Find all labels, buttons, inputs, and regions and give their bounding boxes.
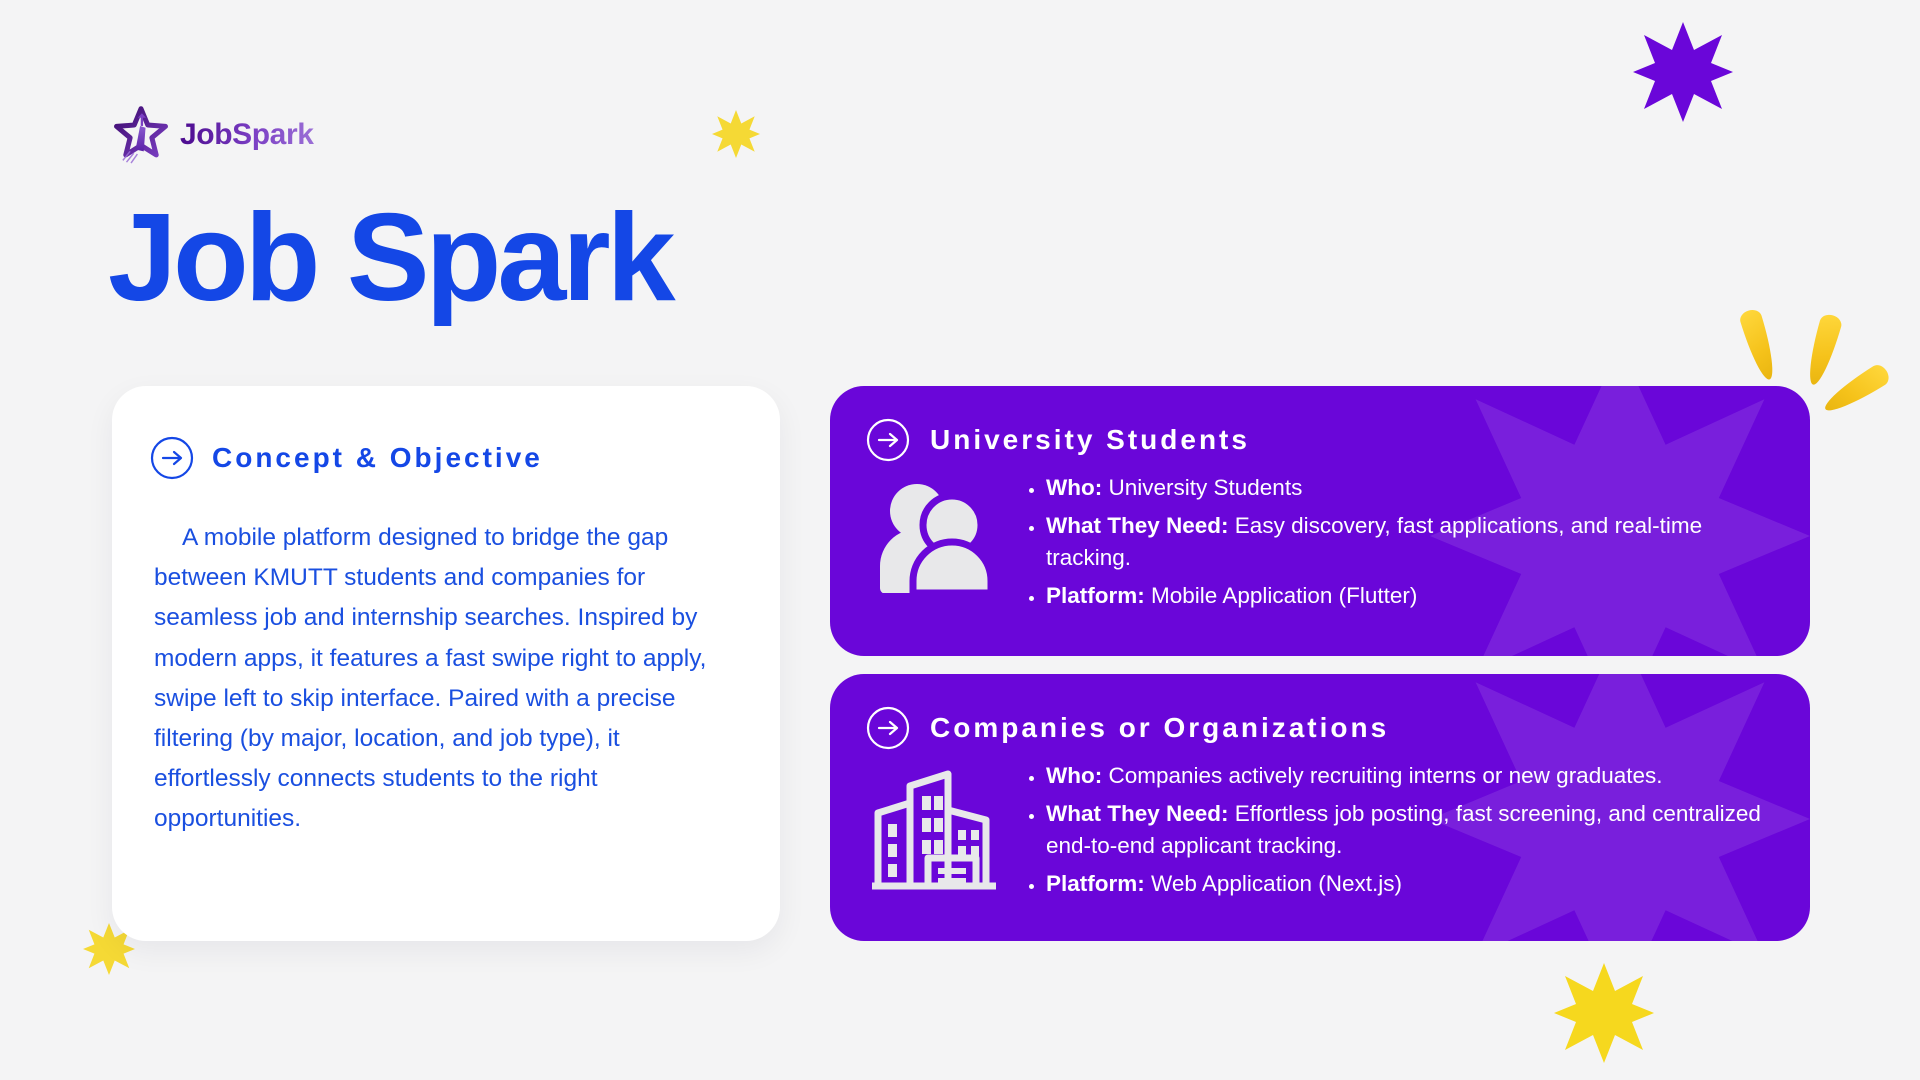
bullet-label: Platform: — [1046, 871, 1145, 896]
bullet-text: Web Application (Next.js) — [1151, 871, 1402, 896]
list-item: What They Need: Effortless job posting, … — [1046, 798, 1774, 862]
list-item: Platform: Mobile Application (Flutter) — [1046, 580, 1774, 612]
two-people-icon — [864, 472, 1004, 593]
list-item: Who: Companies actively recruiting inter… — [1046, 760, 1774, 792]
concept-card-heading: Concept & Objective — [212, 442, 543, 474]
star-rocket-logo-icon — [112, 106, 170, 164]
list-item: Who: University Students — [1046, 472, 1774, 504]
slide-canvas: JobSpark Job Spark Concept & Objective A… — [0, 0, 1920, 1080]
bullet-text: Mobile Application (Flutter) — [1151, 583, 1417, 608]
bullet-label: What They Need: — [1046, 801, 1229, 826]
yellow-8point-star-bottom-right-icon — [1554, 963, 1654, 1063]
audience-bullet-list: Who: Companies actively recruiting inter… — [1022, 760, 1774, 906]
bullet-label: Who: — [1046, 763, 1102, 788]
audience-card-companies-organizations: Companies or Organizations — [830, 674, 1810, 941]
concept-objective-card: Concept & Objective A mobile platform de… — [112, 386, 780, 941]
bullet-text: Companies actively recruiting interns or… — [1108, 763, 1662, 788]
purple-8point-star-icon — [1633, 22, 1733, 122]
audience-card-header: Companies or Organizations — [830, 674, 1810, 750]
yellow-8point-star-small-icon — [712, 110, 760, 158]
audience-card-university-students: University Students Who: University Stud… — [830, 386, 1810, 656]
bullet-label: What They Need: — [1046, 513, 1229, 538]
page-title: Job Spark — [108, 196, 672, 320]
audience-bullet-list: Who: University Students What They Need:… — [1022, 472, 1774, 618]
circle-arrow-right-icon — [866, 418, 910, 462]
concept-card-header: Concept & Objective — [112, 386, 780, 480]
list-item: What They Need: Easy discovery, fast app… — [1046, 510, 1774, 574]
circle-arrow-right-icon — [866, 706, 910, 750]
audience-card-heading: University Students — [930, 424, 1250, 456]
audience-card-body: Who: Companies actively recruiting inter… — [830, 750, 1810, 906]
bullet-label: Platform: — [1046, 583, 1145, 608]
circle-arrow-right-icon — [150, 436, 194, 480]
brand-logo-text: JobSpark — [180, 118, 314, 152]
brand-logo: JobSpark — [112, 106, 314, 164]
bullet-label: Who: — [1046, 475, 1102, 500]
audience-card-body: Who: University Students What They Need:… — [830, 462, 1810, 618]
bullet-text: University Students — [1108, 475, 1302, 500]
audience-card-heading: Companies or Organizations — [930, 712, 1389, 744]
office-buildings-icon — [864, 760, 1004, 894]
audience-card-header: University Students — [830, 386, 1810, 462]
list-item: Platform: Web Application (Next.js) — [1046, 868, 1774, 900]
concept-card-body: A mobile platform designed to bridge the… — [154, 518, 740, 839]
